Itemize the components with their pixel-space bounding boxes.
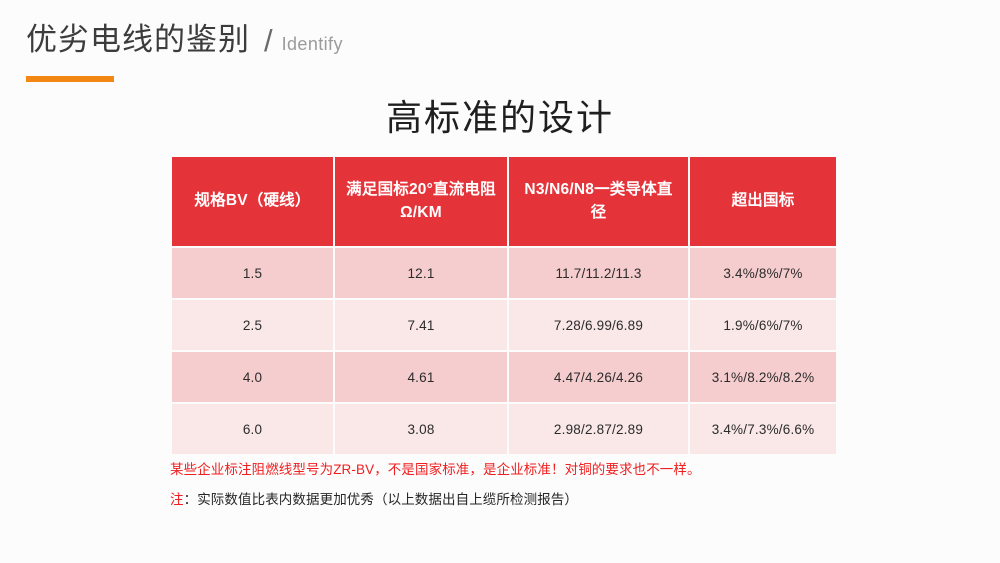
cell-resistance: 4.61: [335, 352, 507, 402]
cell-resistance: 3.08: [335, 404, 507, 454]
table-header: 规格BV（硬线） 满足国标20°直流电阻Ω/KM N3/N6/N8一类导体直径 …: [172, 157, 836, 246]
slide-header: 优劣电线的鉴别 / Identify: [26, 22, 343, 58]
column-header-conductor-diameter: N3/N6/N8一类导体直径: [509, 157, 688, 246]
slide-header-title-en: Identify: [282, 34, 343, 55]
cell-resistance: 12.1: [335, 248, 507, 298]
slide-header-title-cn: 优劣电线的鉴别: [26, 24, 250, 55]
cell-exceed-standard: 1.9%/6%/7%: [690, 300, 836, 350]
column-header-spec: 规格BV（硬线）: [172, 157, 333, 246]
cell-resistance: 7.41: [335, 300, 507, 350]
header-accent-bar: [26, 76, 114, 82]
table-row: 1.5 12.1 11.7/11.2/11.3 3.4%/8%/7%: [172, 248, 836, 298]
footnotes: 某些企业标注阻燃线型号为ZR-BV，不是国家标准，是企业标准！对铜的要求也不一样…: [170, 455, 870, 515]
cell-spec: 6.0: [172, 404, 333, 454]
column-header-exceed-standard: 超出国标: [690, 157, 836, 246]
footnote-note-text: ：实际数值比表内数据更加优秀（以上数据出自上缆所检测报告）: [184, 492, 578, 507]
cell-spec: 1.5: [172, 248, 333, 298]
cell-conductor-diameter: 7.28/6.99/6.89: [509, 300, 688, 350]
table-header-row: 规格BV（硬线） 满足国标20°直流电阻Ω/KM N3/N6/N8一类导体直径 …: [172, 157, 836, 246]
cell-conductor-diameter: 11.7/11.2/11.3: [509, 248, 688, 298]
table-body: 1.5 12.1 11.7/11.2/11.3 3.4%/8%/7% 2.5 7…: [172, 248, 836, 454]
table-row: 4.0 4.61 4.47/4.26/4.26 3.1%/8.2%/8.2%: [172, 352, 836, 402]
table-row: 6.0 3.08 2.98/2.87/2.89 3.4%/7.3%/6.6%: [172, 404, 836, 454]
cell-exceed-standard: 3.4%/7.3%/6.6%: [690, 404, 836, 454]
footnote-note-label: 注: [170, 492, 184, 507]
cell-spec: 2.5: [172, 300, 333, 350]
slide-header-divider-slash: /: [264, 23, 273, 59]
page-title: 高标准的设计: [0, 96, 1000, 139]
footnote-warning-text: 某些企业标注阻燃线型号为ZR-BV，不是国家标准，是企业标准！对铜的要求也不一样…: [170, 462, 701, 477]
cell-conductor-diameter: 2.98/2.87/2.89: [509, 404, 688, 454]
footnote-warning: 某些企业标注阻燃线型号为ZR-BV，不是国家标准，是企业标准！对铜的要求也不一样…: [170, 455, 870, 485]
column-header-resistance: 满足国标20°直流电阻Ω/KM: [335, 157, 507, 246]
cell-conductor-diameter: 4.47/4.26/4.26: [509, 352, 688, 402]
cell-exceed-standard: 3.1%/8.2%/8.2%: [690, 352, 836, 402]
specification-table: 规格BV（硬线） 满足国标20°直流电阻Ω/KM N3/N6/N8一类导体直径 …: [170, 155, 838, 456]
cell-exceed-standard: 3.4%/8%/7%: [690, 248, 836, 298]
footnote-note: 注：实际数值比表内数据更加优秀（以上数据出自上缆所检测报告）: [170, 485, 870, 515]
cell-spec: 4.0: [172, 352, 333, 402]
table-row: 2.5 7.41 7.28/6.99/6.89 1.9%/6%/7%: [172, 300, 836, 350]
